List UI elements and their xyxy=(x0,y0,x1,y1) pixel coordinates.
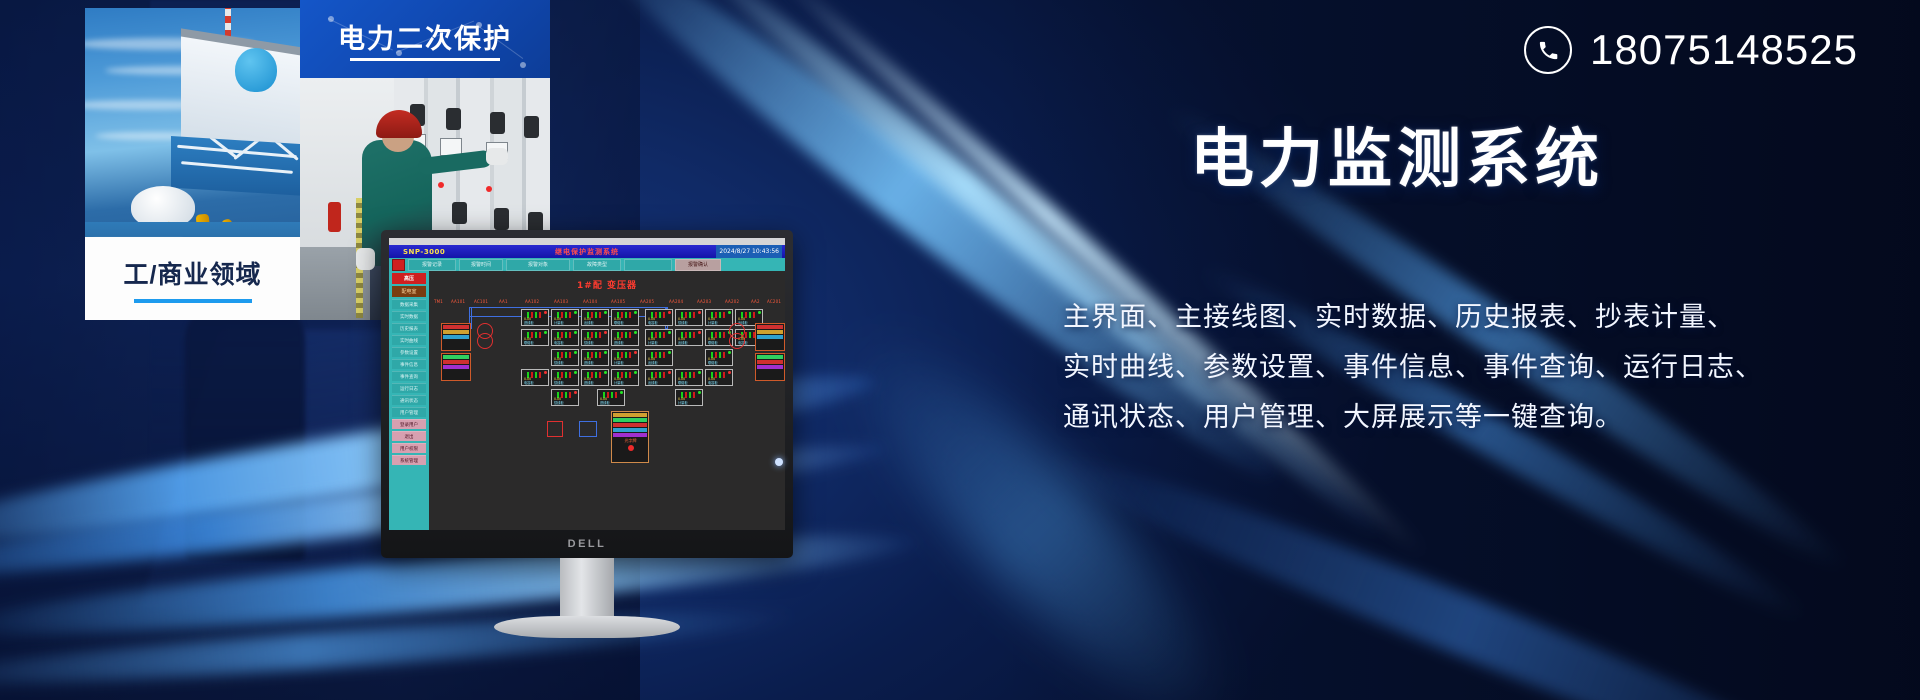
page-title: 电力监测系统 xyxy=(1190,108,1604,200)
transformer-symbol xyxy=(729,333,745,349)
scada-sidebar[interactable]: 高压 配电室 数据采集 实时数据 历史报表 实时曲线 参数设置 事件信息 事件查… xyxy=(389,271,429,530)
description-line-1: 主界面、主接线图、实时数据、历史报表、抄表计量、 xyxy=(1063,292,1783,342)
transformer-symbol xyxy=(477,333,493,349)
delta-symbol xyxy=(493,321,507,333)
annunciator-title: 光字牌 xyxy=(613,438,647,444)
bay-cell-name: 进线柜 xyxy=(584,360,594,365)
monitor-power-led-icon xyxy=(775,458,783,466)
bay-cell[interactable]: 0.00联络柜 xyxy=(675,369,703,386)
bay-cell-name: 馈线柜 xyxy=(584,340,594,345)
bay-cell-name: 计量柜 xyxy=(678,400,688,405)
bay-cell-name: 电容柜 xyxy=(648,320,658,325)
bay-cell-name: 计量柜 xyxy=(708,320,718,325)
bay-cell-name: 计量柜 xyxy=(554,320,564,325)
bay-cell-name: 出线柜 xyxy=(678,340,688,345)
feeder-label: AA202 xyxy=(725,299,739,304)
bay-cell-name: 进线柜 xyxy=(600,400,610,405)
feeder-label: AA205 xyxy=(640,299,654,304)
sidebar-item[interactable]: 用户权限 xyxy=(392,443,426,453)
dell-logo: DELL xyxy=(568,538,607,550)
bay-cell[interactable]: 0.00计量柜 xyxy=(611,369,639,386)
bay-cell-name: 馈线柜 xyxy=(554,380,564,385)
bay-cell-name: 计量柜 xyxy=(648,340,658,345)
scada-timestamp: 2024/8/27 10:43:56 xyxy=(716,245,782,258)
caption-label-industrial-commercial: 工/商业领域 xyxy=(85,255,300,291)
monitor-chin: DELL xyxy=(381,530,793,558)
scada-alarm-icon[interactable] xyxy=(392,259,405,271)
sidebar-item[interactable]: 实时数据 xyxy=(392,311,426,321)
feature-description: 主界面、主接线图、实时数据、历史报表、抄表计量、 实时曲线、参数设置、事件信息、… xyxy=(1063,292,1783,442)
feeder-label: TM1 xyxy=(434,299,443,304)
sidebar-item[interactable]: 用户管理 xyxy=(392,407,426,417)
scada-window-bar xyxy=(389,238,785,245)
feeder-label: AA103 xyxy=(554,299,568,304)
scada-menu-bar[interactable]: 报警记录 报警时间 报警对象 故障类型 报警确认 xyxy=(389,258,785,271)
sidebar-item[interactable]: 数据采集 xyxy=(392,299,426,309)
scada-menu-item-confirm[interactable]: 报警确认 xyxy=(675,259,721,271)
breaker-symbol xyxy=(579,421,597,437)
feeder-label: AA1 xyxy=(499,299,508,304)
bay-cell[interactable]: 0.00馈线柜 xyxy=(581,329,609,346)
sidebar-item[interactable]: 历史报表 xyxy=(392,323,426,333)
bay-cell-name: 进线柜 xyxy=(524,320,534,325)
bay-cell-name: 联络柜 xyxy=(614,320,624,325)
scada-body: 高压 配电室 数据采集 实时数据 历史报表 实时曲线 参数设置 事件信息 事件查… xyxy=(389,271,785,530)
caption-underline xyxy=(134,299,252,303)
sidebar-item[interactable]: 事件查询 xyxy=(392,371,426,381)
scada-title-bar: SNP-3000 继电保护监测系统 2024/8/27 10:43:56 xyxy=(389,245,785,258)
bay-cell[interactable]: 0.00进线柜 xyxy=(581,349,609,366)
bay-cell[interactable]: 0.00出线柜 xyxy=(645,369,673,386)
description-line-2: 实时曲线、参数设置、事件信息、事件查询、运行日志、 xyxy=(1063,342,1783,392)
bay-cell-name: 馈线柜 xyxy=(678,320,688,325)
phone-number[interactable]: 18075148525 xyxy=(1590,26,1858,74)
description-line-3: 通讯状态、用户管理、大屏展示等一键查询。 xyxy=(1063,392,1783,442)
bay-cell-name: 计量柜 xyxy=(614,360,624,365)
bay-cell[interactable]: 0.00电容柜 xyxy=(521,369,549,386)
promo-banner: 电力二次保护 工/商业领域 SNP-3000 继电保护监测系统 2024/8/2… xyxy=(0,0,1920,700)
annunciator-panel[interactable]: 光字牌 xyxy=(611,411,649,463)
bay-cell[interactable]: 0.00计量柜 xyxy=(645,329,673,346)
caption-card-secondary-protection: 电力二次保护 xyxy=(300,0,550,78)
sidebar-item[interactable]: 退出 xyxy=(392,431,426,441)
bay-cell-name: 出线柜 xyxy=(584,320,594,325)
sidebar-item[interactable]: 事件信息 xyxy=(392,359,426,369)
bay-cell-name: 馈线柜 xyxy=(554,400,564,405)
feeder-label: AA2 xyxy=(751,299,760,304)
feeder-label: AA101 xyxy=(451,299,465,304)
bay-cell[interactable]: 0.00联络柜 xyxy=(521,329,549,346)
feeder-label: AA102 xyxy=(525,299,539,304)
feeder-label: AC101 xyxy=(474,299,488,304)
sidebar-item[interactable]: 系统管理 xyxy=(392,455,426,465)
bay-cell[interactable]: 0.00馈线柜 xyxy=(551,369,579,386)
bay-cell-name: 联络柜 xyxy=(678,380,688,385)
scada-sidebar-hv[interactable]: 高压 xyxy=(392,273,426,284)
protection-group-right-2[interactable] xyxy=(755,353,785,381)
scada-menu-item[interactable]: 报警记录 xyxy=(408,259,456,271)
feeder-label: AA105 xyxy=(611,299,625,304)
protection-group-left[interactable] xyxy=(441,323,471,351)
bay-cell-name: 出线柜 xyxy=(648,380,658,385)
bay-cell-name: 进线柜 xyxy=(614,340,624,345)
bay-cell[interactable]: 0.00出线柜 xyxy=(581,309,609,326)
monitor-screen: SNP-3000 继电保护监测系统 2024/8/27 10:43:56 报警记… xyxy=(389,238,785,530)
bay-cell-name: 计量柜 xyxy=(614,380,624,385)
feeder-label: AA203 xyxy=(697,299,711,304)
bay-cell[interactable]: 0.00出线柜 xyxy=(645,349,673,366)
bay-cell[interactable]: 0.00电容柜 xyxy=(705,369,733,386)
bay-cell[interactable]: 0.00进线柜 xyxy=(581,369,609,386)
protection-group-left-2[interactable] xyxy=(441,353,471,381)
bay-cell-name: 联络柜 xyxy=(524,340,534,345)
caption-underline xyxy=(350,58,500,61)
sidebar-item[interactable]: 参数设置 xyxy=(392,347,426,357)
ct-symbol xyxy=(547,421,563,437)
bay-cell[interactable]: 0.00出线柜 xyxy=(675,329,703,346)
bay-cell-name: 联络柜 xyxy=(708,340,718,345)
bay-cell-name: 电容柜 xyxy=(708,380,718,385)
bay-cell-name: 进线柜 xyxy=(584,380,594,385)
bay-cell[interactable]: 0.00馈线柜 xyxy=(675,309,703,326)
bay-cell-name: 电容柜 xyxy=(554,340,564,345)
bay-cell[interactable]: 0.00联络柜 xyxy=(705,349,733,366)
scada-menu-item[interactable]: 报警对象 xyxy=(506,259,570,271)
bay-cell[interactable]: 0.00电容柜 xyxy=(551,329,579,346)
bay-cell[interactable]: 0.00联络柜 xyxy=(611,309,639,326)
phone-icon xyxy=(1524,26,1572,74)
bay-cell[interactable]: 0.00进线柜 xyxy=(611,329,639,346)
scada-application: SNP-3000 继电保护监测系统 2024/8/27 10:43:56 报警记… xyxy=(389,238,785,530)
bay-cell-name: 电容柜 xyxy=(524,380,534,385)
bay-cell-name: 馈线柜 xyxy=(554,360,564,365)
bay-cell[interactable]: 0.00进线柜 xyxy=(597,389,625,406)
protection-group-right[interactable] xyxy=(755,323,785,351)
bay-cell-name: 出线柜 xyxy=(648,360,658,365)
scada-diagram-title: 1#配 变压器 xyxy=(429,278,785,291)
sidebar-item[interactable]: 运行日志 xyxy=(392,383,426,393)
sidebar-item[interactable]: 登录用户 xyxy=(392,419,426,429)
bay-cell[interactable]: 0.00计量柜 xyxy=(611,349,639,366)
scada-menu-item[interactable]: 故障类型 xyxy=(573,259,621,271)
feeder-label: AA204 xyxy=(669,299,683,304)
bay-cell[interactable]: 0.00计量柜 xyxy=(705,309,733,326)
caption-card-industrial-commercial: 工/商业领域 xyxy=(85,237,300,320)
bay-cell[interactable]: 0.00计量柜 xyxy=(675,389,703,406)
bay-cell[interactable]: 0.00馈线柜 xyxy=(551,349,579,366)
monitor-stand-neck xyxy=(560,558,614,622)
scada-diagram-area: 1#配 变压器 TM1 AA101 AC101 AA1 AA102 AA103 … xyxy=(429,271,785,530)
contact-phone[interactable]: 18075148525 xyxy=(1524,26,1858,74)
feeder-label: AC201 xyxy=(767,299,781,304)
feeder-label: AA104 xyxy=(583,299,597,304)
scada-sidebar-dist[interactable]: 配电室 xyxy=(392,286,426,297)
scada-menu-spacer xyxy=(624,259,672,271)
bay-cell[interactable]: 0.00馈线柜 xyxy=(551,389,579,406)
scada-menu-item[interactable]: 报警时间 xyxy=(459,259,503,271)
sidebar-item[interactable]: 实时曲线 xyxy=(392,335,426,345)
monitor-stand-base xyxy=(494,616,680,638)
sidebar-item[interactable]: 通讯状态 xyxy=(392,395,426,405)
bay-cell-name: 联络柜 xyxy=(708,360,718,365)
bay-cell[interactable]: 0.00进线柜 xyxy=(521,309,549,326)
bay-cell[interactable]: 0.00电容柜 xyxy=(645,309,673,326)
monitor-mockup: SNP-3000 继电保护监测系统 2024/8/27 10:43:56 报警记… xyxy=(381,230,793,558)
bay-cell[interactable]: 0.00计量柜 xyxy=(551,309,579,326)
caption-label-secondary-protection: 电力二次保护 xyxy=(300,17,550,56)
